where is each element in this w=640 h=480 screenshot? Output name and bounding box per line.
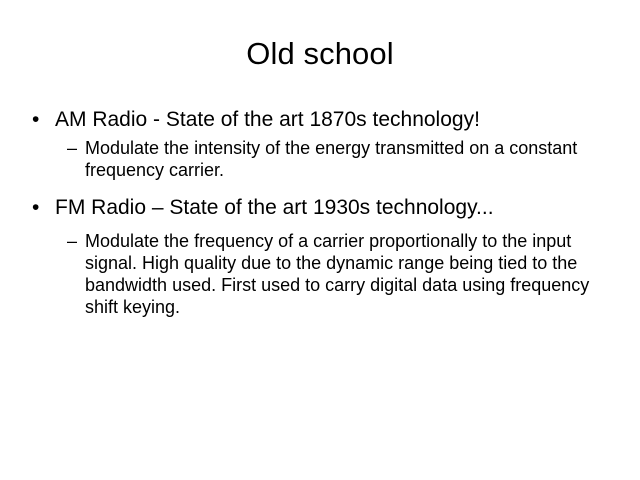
dash-bullet-icon: – <box>67 230 77 252</box>
spacer <box>30 181 610 195</box>
list-item-label: Modulate the frequency of a carrier prop… <box>85 231 589 317</box>
list-item-label: Modulate the intensity of the energy tra… <box>85 138 577 180</box>
list-item: – Modulate the frequency of a carrier pr… <box>30 230 610 318</box>
list-item: • FM Radio – State of the art 1930s tech… <box>30 195 610 221</box>
list-item: – Modulate the intensity of the energy t… <box>30 137 610 181</box>
slide-canvas: Old school • AM Radio - State of the art… <box>0 0 640 480</box>
list-item-label: FM Radio – State of the art 1930s techno… <box>55 196 494 219</box>
slide-body: • AM Radio - State of the art 1870s tech… <box>30 107 610 318</box>
spacer <box>30 221 610 230</box>
list-item-label: AM Radio - State of the art 1870s techno… <box>55 108 480 131</box>
dash-bullet-icon: – <box>67 137 77 159</box>
page-title: Old school <box>0 36 640 72</box>
disc-bullet-icon: • <box>32 195 39 221</box>
list-item: • AM Radio - State of the art 1870s tech… <box>30 107 610 133</box>
disc-bullet-icon: • <box>32 107 39 133</box>
